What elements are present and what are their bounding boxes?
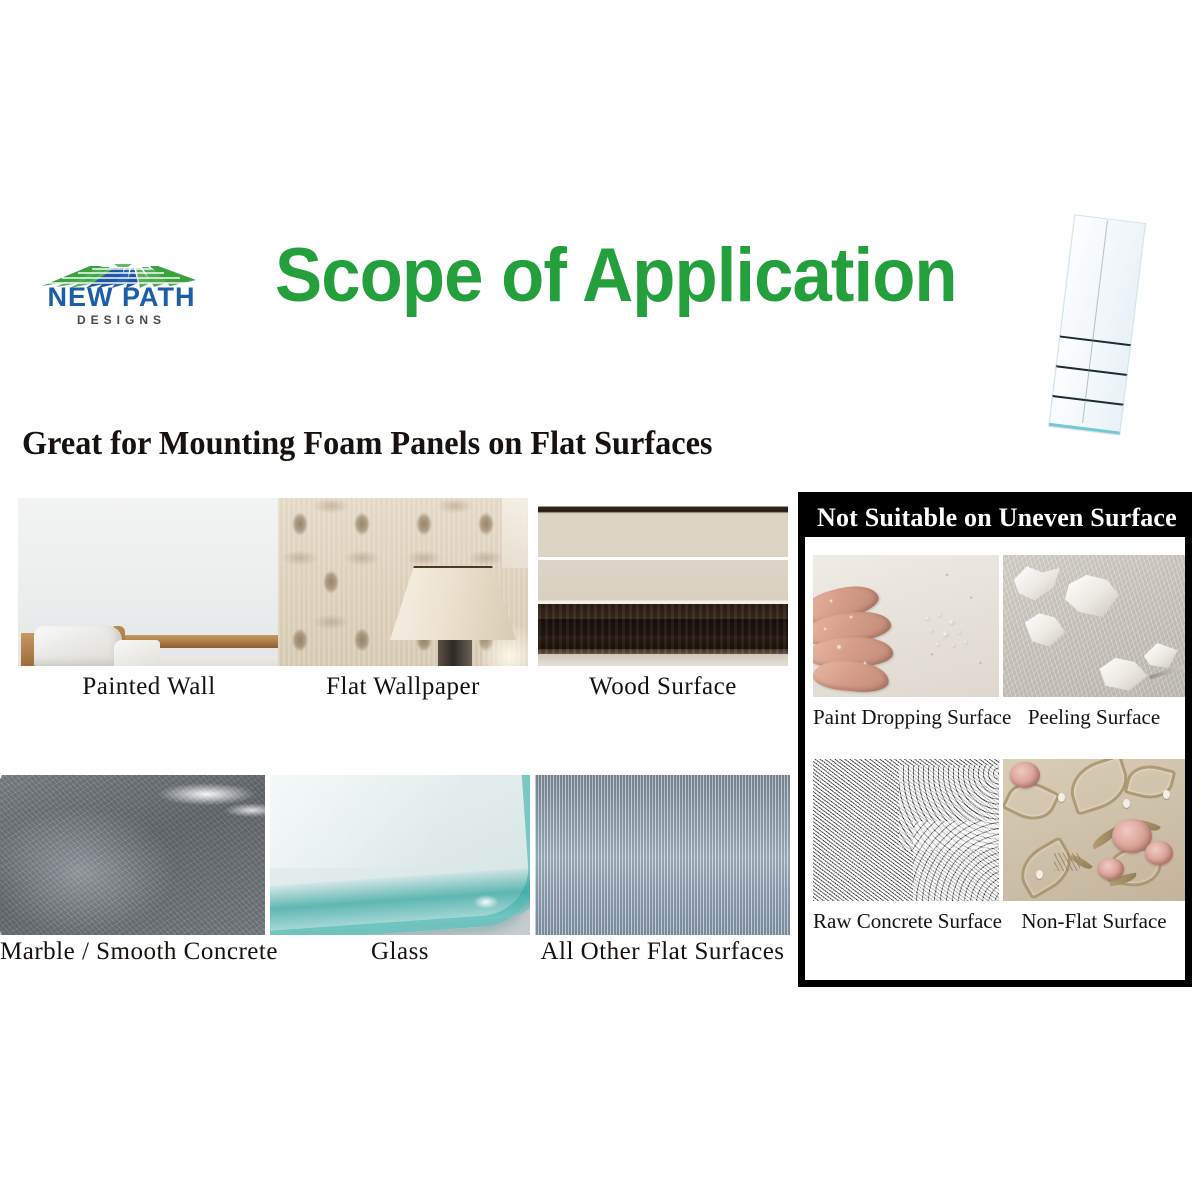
marble-photo-icon bbox=[0, 775, 265, 935]
non-flat-surface-photo-icon bbox=[1003, 759, 1185, 901]
good-surface-item-glass bbox=[270, 775, 530, 935]
good-surface-caption-glass: Glass bbox=[270, 938, 530, 966]
good-section-heading: Great for Mounting Foam Panels on Flat S… bbox=[22, 425, 713, 463]
good-surface-caption-flat-wallpaper: Flat Wallpaper bbox=[278, 673, 528, 701]
slide-canvas: NEW PATH DESIGNS Scope of Application Gr… bbox=[0, 0, 1200, 1200]
good-surface-item-painted-wall bbox=[18, 498, 280, 666]
brand-logo: NEW PATH DESIGNS bbox=[34, 250, 209, 335]
bad-surface-caption-non-flat: Non-Flat Surface bbox=[1003, 909, 1185, 934]
bad-section-heading: Not Suitable on Uneven Surface bbox=[805, 499, 1185, 537]
bad-surface-item-paint-dropping bbox=[813, 555, 999, 697]
peeling-surface-photo-icon bbox=[1003, 555, 1185, 697]
bad-surface-caption-raw-concrete: Raw Concrete Surface bbox=[813, 909, 999, 934]
tape-sheet-main bbox=[1059, 214, 1146, 349]
bad-surface-caption-peeling: Peeling Surface bbox=[1003, 705, 1185, 730]
good-surface-item-wood-surface bbox=[538, 498, 788, 666]
page-title: Scope of Application bbox=[275, 238, 926, 314]
good-surface-caption-marble: Marble / Smooth Concrete bbox=[0, 938, 265, 966]
bad-surfaces-grid: Paint Dropping Surface Peeling Surface bbox=[805, 537, 1185, 978]
bad-surface-item-peeling bbox=[1003, 555, 1185, 697]
good-surface-caption-wood-surface: Wood Surface bbox=[538, 673, 788, 701]
bad-surface-caption-paint-dropping: Paint Dropping Surface bbox=[813, 705, 999, 730]
paint-dropping-photo-icon bbox=[813, 555, 999, 697]
mounting-tape-strips-icon bbox=[1050, 214, 1146, 421]
good-surface-item-other-flat bbox=[535, 775, 790, 935]
good-surface-item-flat-wallpaper bbox=[278, 498, 528, 666]
raw-concrete-photo-icon bbox=[813, 759, 999, 901]
unsuitable-surfaces-panel: Not Suitable on Uneven Surface Paint Dro… bbox=[798, 492, 1192, 987]
brushed-metal-photo-icon bbox=[535, 775, 790, 935]
bad-surface-item-non-flat bbox=[1003, 759, 1185, 901]
brand-name: NEW PATH bbox=[34, 284, 209, 311]
good-surface-caption-other-flat: All Other Flat Surfaces bbox=[535, 938, 790, 966]
brand-tagline: DESIGNS bbox=[34, 314, 209, 326]
good-surface-caption-painted-wall: Painted Wall bbox=[18, 673, 280, 701]
painted-wall-photo-icon bbox=[18, 498, 280, 666]
good-surface-item-marble bbox=[0, 775, 265, 935]
wood-surface-photo-icon bbox=[538, 498, 788, 666]
glass-photo-icon bbox=[270, 775, 530, 935]
bad-surface-item-raw-concrete bbox=[813, 759, 999, 901]
flat-wallpaper-photo-icon bbox=[278, 498, 528, 666]
